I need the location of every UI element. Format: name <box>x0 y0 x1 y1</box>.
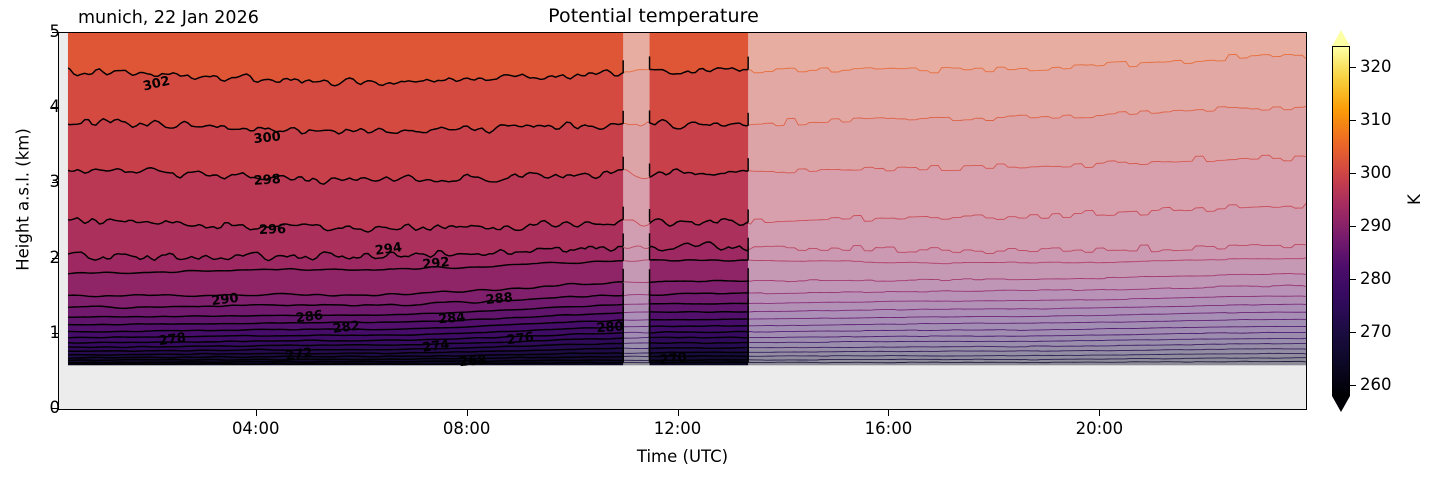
contour-label-298: 298 <box>253 172 281 189</box>
colorbar-tick-label-310: 310 <box>1360 112 1392 128</box>
contour-label-288: 288 <box>485 290 514 308</box>
colorbar-tick-label-280: 280 <box>1360 271 1392 287</box>
x-axis-label: Time (UTC) <box>58 447 1307 466</box>
colorbar-tick-mark <box>1350 332 1356 333</box>
contour-label-296: 296 <box>259 222 287 238</box>
site-date-label: munich, 22 Jan 2026 <box>78 7 259 29</box>
colorbar-tick-label-260: 260 <box>1360 377 1392 393</box>
colorbar-unit-label: K <box>1405 194 1424 205</box>
x-tick-mark <box>678 410 679 416</box>
colorbar-tick-mark <box>1350 173 1356 174</box>
colorbar: 260270280290300310320 <box>1332 32 1350 410</box>
y-tick-label-1: 1 <box>0 325 60 341</box>
y-tick-label-0: 0 <box>0 400 60 416</box>
y-tick-label-4: 4 <box>0 99 60 115</box>
contour-label-280: 280 <box>596 319 624 336</box>
x-tick-mark <box>1099 410 1100 416</box>
colorbar-tick-mark <box>1350 226 1356 227</box>
contour-plot: 3023002982962942922902882862842822802782… <box>59 33 1306 409</box>
contour-label-284: 284 <box>438 310 466 327</box>
colorbar-tick-mark <box>1350 279 1356 280</box>
x-tick-label-1200: 12:00 <box>618 419 738 438</box>
colorbar-tick-mark <box>1350 67 1356 68</box>
colorbar-tick-label-300: 300 <box>1360 165 1392 181</box>
colorbar-tick-mark <box>1350 385 1356 386</box>
colorbar-tick-label-320: 320 <box>1360 59 1392 75</box>
y-tick-label-2: 2 <box>0 250 60 266</box>
x-tick-mark <box>467 410 468 416</box>
contour-label-292: 292 <box>422 255 451 273</box>
contour-label-268: 268 <box>459 353 487 370</box>
plot-clip: 3023002982962942922902882862842822802782… <box>59 33 1306 409</box>
plot-area: 3023002982962942922902882862842822802782… <box>58 32 1307 410</box>
colorbar-tick-label-270: 270 <box>1360 324 1392 340</box>
contour-label-270: 270 <box>659 350 688 368</box>
x-tick-label-2000: 20:00 <box>1039 419 1159 438</box>
colorbar-extend-min-arrow <box>1332 396 1350 412</box>
terrain-below-surface <box>59 365 1306 409</box>
figure-canvas: Potential temperature munich, 22 Jan 202… <box>0 0 1429 478</box>
colorbar-gradient <box>1332 46 1350 396</box>
x-tick-mark <box>888 410 889 416</box>
x-tick-mark <box>256 410 257 416</box>
no-data-strip-left <box>59 33 68 409</box>
x-tick-label-1600: 16:00 <box>828 419 948 438</box>
colorbar-tick-mark <box>1350 120 1356 121</box>
y-tick-label-5: 5 <box>0 24 60 40</box>
contour-label-300: 300 <box>253 129 282 147</box>
y-tick-label-3: 3 <box>0 174 60 190</box>
colorbar-extend-max-arrow <box>1332 30 1350 46</box>
x-tick-label-0800: 08:00 <box>407 419 527 438</box>
colorbar-tick-label-290: 290 <box>1360 218 1392 234</box>
x-tick-label-0400: 04:00 <box>196 419 316 438</box>
